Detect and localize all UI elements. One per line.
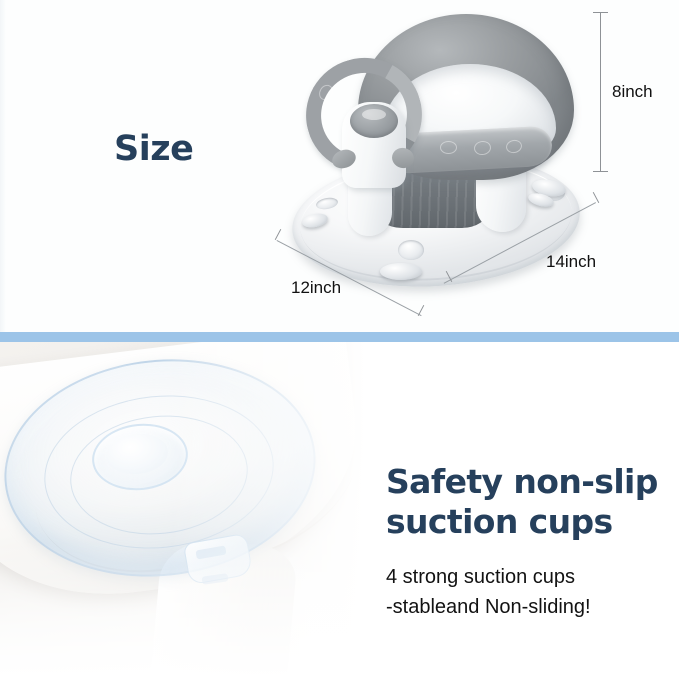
dimension-cap-height-bottom <box>593 171 608 172</box>
photo-fade-bottom <box>0 542 366 679</box>
knob-highlight <box>362 109 386 120</box>
size-panel: Size <box>0 0 679 332</box>
product-infographic: Size <box>0 0 679 679</box>
suction-cup-photo <box>0 342 366 679</box>
dimension-line-height <box>600 12 601 172</box>
dimension-cap-depth-start <box>593 192 600 203</box>
base-suction-cup <box>380 263 422 280</box>
dimension-label-height: 8inch <box>612 82 653 102</box>
dimension-label-width: 12inch <box>291 278 341 298</box>
panel-divider <box>0 332 679 342</box>
dimension-cap-height-top <box>593 12 608 13</box>
safety-heading: Safety non-slip suction cups <box>386 462 676 542</box>
armrest-emboss-icon <box>440 141 457 154</box>
safety-heading-line2: suction cups <box>386 502 613 541</box>
base-screw-dimple <box>398 240 424 260</box>
safety-body-text: 4 strong suction cups -stableand Non-sli… <box>386 562 676 622</box>
size-heading: Size <box>114 129 193 169</box>
dimension-label-depth: 14inch <box>546 252 596 272</box>
safety-body-line2: -stableand Non-sliding! <box>386 596 591 618</box>
safety-heading-line1: Safety non-slip <box>386 462 658 501</box>
safety-body-line1: 4 strong suction cups <box>386 566 575 588</box>
